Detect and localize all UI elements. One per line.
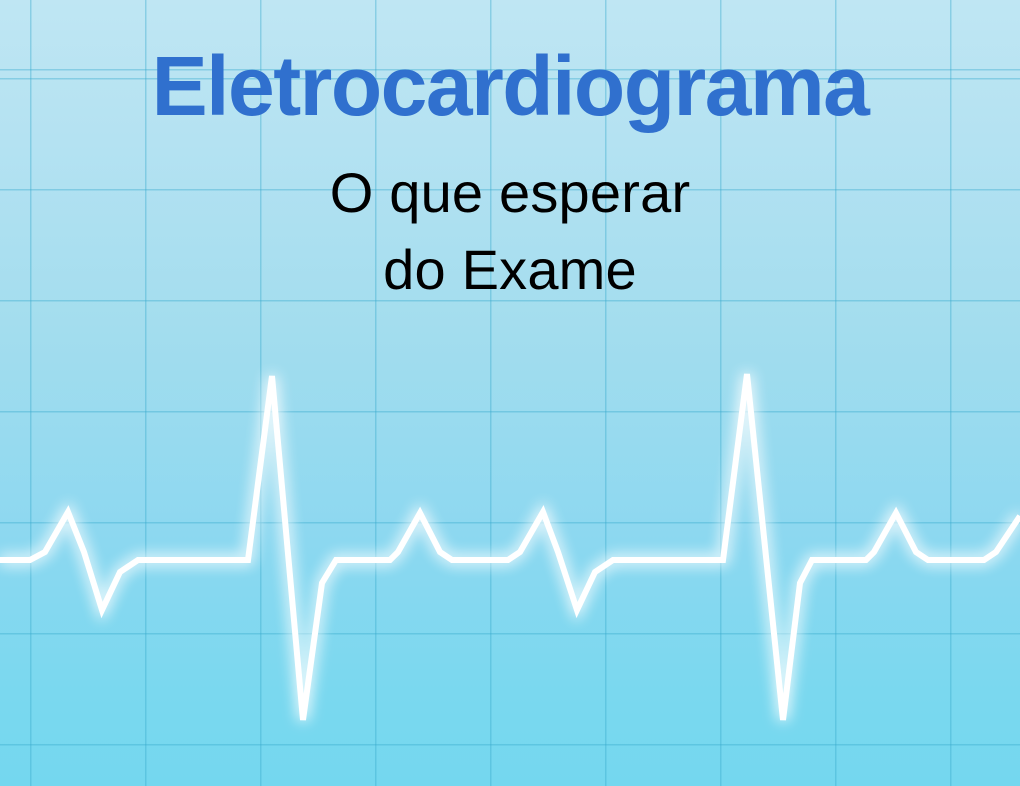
poster-subtitle: O que esperar do Exame xyxy=(0,130,1020,309)
page-title: Eletrocardiograma xyxy=(0,42,1020,130)
poster-text-block: Eletrocardiograma O que esperar do Exame xyxy=(0,42,1020,309)
ecg-poster: Eletrocardiograma O que esperar do Exame xyxy=(0,0,1020,786)
ecg-trace-glow xyxy=(0,374,1020,720)
subtitle-line-2: do Exame xyxy=(0,231,1020,308)
subtitle-line-1: O que esperar xyxy=(0,154,1020,231)
ecg-trace-line xyxy=(0,374,1020,720)
